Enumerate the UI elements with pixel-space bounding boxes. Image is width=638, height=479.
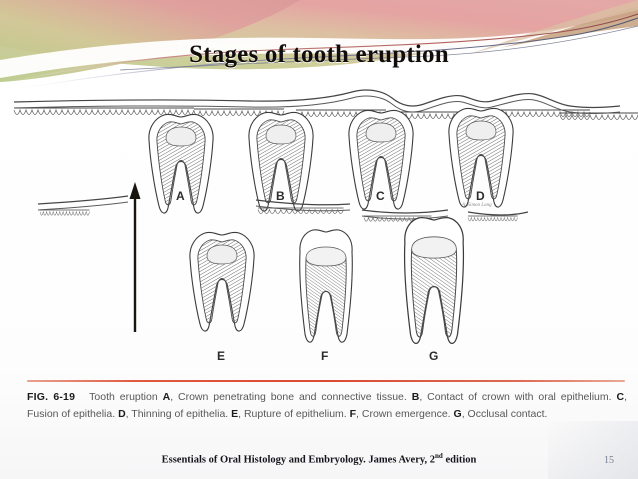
figure-caption: FIG. 6-19Tooth eruption A, Crown penetra… (27, 389, 627, 423)
page-number: 15 (604, 455, 614, 466)
caption-text-F: , Crown emergence. (356, 408, 451, 420)
caption-lead: Tooth eruption (89, 391, 158, 403)
caption-text-E: , Rupture of epithelium. (238, 408, 347, 420)
tooth-eruption-drawing: A. Simon Lang A B C D E F G (0, 86, 638, 376)
panel-G-tooth (405, 218, 464, 344)
footer-text-after: edition (443, 455, 477, 466)
caption-text-A: , Crown penetrating bone and connective … (170, 391, 407, 403)
figure-letter-B: B (276, 189, 285, 203)
panel-E-tooth (190, 232, 254, 331)
caption-letter-C: C (616, 391, 624, 403)
caption-divider-rule (27, 380, 625, 382)
eruption-direction-arrow (130, 182, 141, 332)
caption-letter-D: D (118, 408, 126, 420)
caption-fig-number: FIG. 6-19 (27, 391, 75, 403)
figure-letter-A: A (176, 189, 185, 203)
artist-signature: A. Simon Lang (461, 203, 492, 208)
caption-letter-G: G (454, 408, 462, 420)
source-footer: Essentials of Oral Histology and Embryol… (0, 452, 638, 466)
caption-text-D: , Thinning of epithelia. (126, 408, 229, 420)
corner-shading (548, 421, 638, 479)
caption-text-G: , Occlusal contact. (462, 408, 548, 420)
slide-canvas: Stages of tooth eruption (0, 0, 638, 479)
figure-illustration: A. Simon Lang A B C D E F G (0, 86, 638, 376)
figure-letter-F: F (321, 349, 328, 363)
footer-ordinal-suffix: nd (435, 452, 443, 460)
panel-F-tooth (300, 230, 353, 342)
top-row-gum-line (14, 90, 638, 120)
figure-letter-D: D (476, 189, 485, 203)
footer-text-before: Essentials of Oral Histology and Embryol… (162, 455, 435, 466)
figure-letter-C: C (376, 189, 385, 203)
caption-text-B: , Contact of crown with oral epithelium. (419, 391, 611, 403)
figure-letter-G: G (429, 349, 438, 363)
figure-letter-E: E (217, 349, 225, 363)
page-title: Stages of tooth eruption (0, 41, 638, 69)
